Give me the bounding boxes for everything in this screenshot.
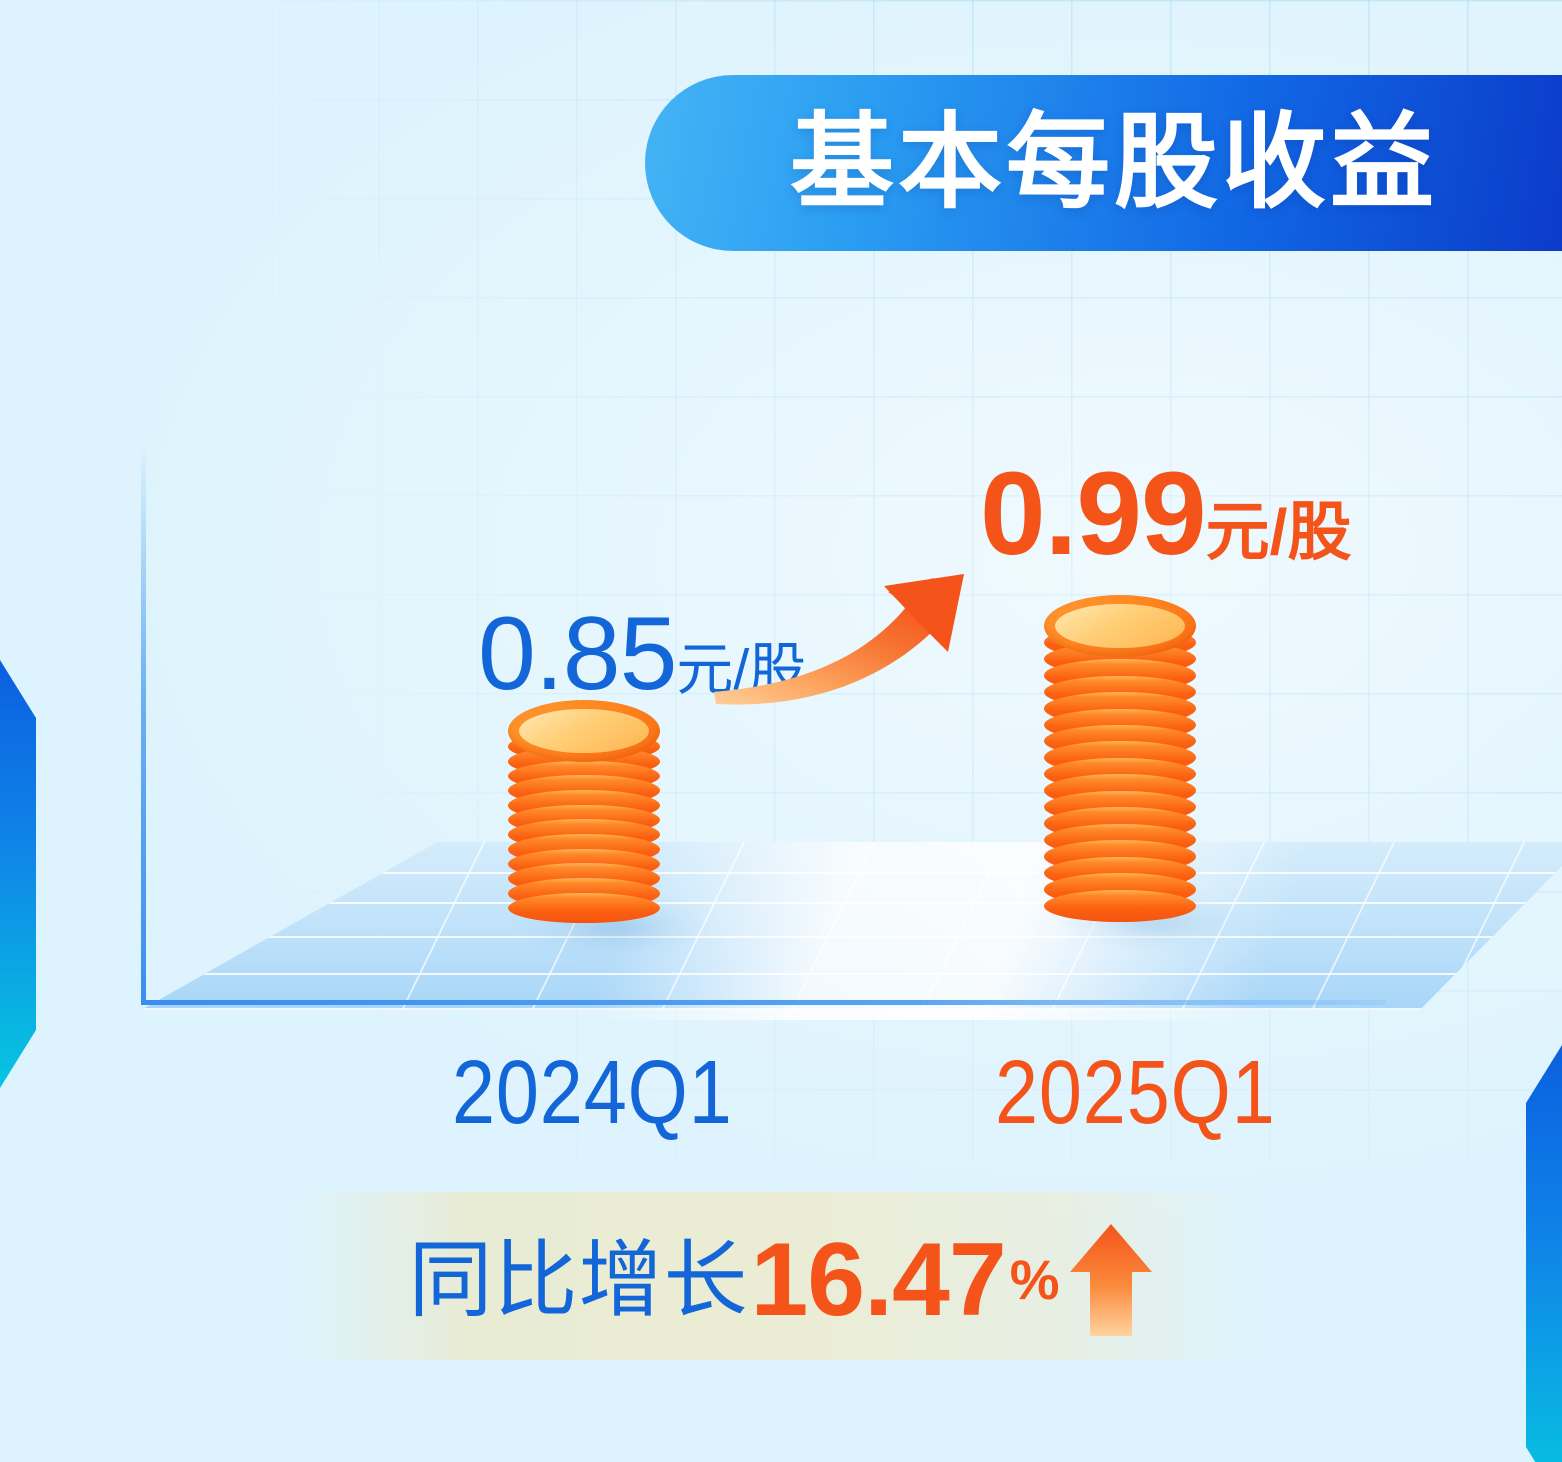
category-label-2024q1: 2024Q1 — [452, 1048, 733, 1138]
infographic-canvas: 基本每股收益 0.85元/股 0.99元/ — [0, 0, 1562, 1462]
curved-growth-arrow-icon — [712, 572, 992, 717]
floor-gridlines — [141, 842, 1562, 1010]
axis-y-line — [141, 443, 146, 1005]
axis-x-line — [141, 1000, 1386, 1005]
coin-disc — [508, 893, 660, 924]
coin-stack-top — [508, 700, 660, 762]
title-banner: 基本每股收益 — [645, 75, 1562, 251]
growth-label: 同比增长 — [408, 1238, 748, 1322]
arrow-up-icon — [1068, 1222, 1154, 1338]
value-number-2024q1: 0.85 — [478, 596, 676, 712]
value-label-2025q1: 0.99元/股 — [980, 455, 1351, 573]
coin-disc — [1044, 890, 1196, 922]
coin-stack-2025q1 — [1044, 595, 1196, 935]
coin-stack-2024q1 — [508, 700, 660, 936]
left-edge-accent — [0, 660, 36, 1088]
page-title: 基本每股收益 — [790, 111, 1438, 215]
coin-stack-top — [1044, 595, 1196, 657]
growth-summary: 同比增长 16.47 % — [0, 1205, 1562, 1355]
coin-top-face — [1055, 604, 1184, 648]
chart-floor — [100, 760, 1562, 1020]
growth-percent-sign: % — [1010, 1252, 1060, 1308]
coin-top-face — [519, 709, 648, 753]
value-unit-2025q1: 元/股 — [1206, 496, 1352, 568]
category-label-2025q1: 2025Q1 — [995, 1048, 1276, 1138]
value-number-2025q1: 0.99 — [980, 448, 1206, 580]
growth-value: 16.47 — [750, 1228, 1005, 1332]
